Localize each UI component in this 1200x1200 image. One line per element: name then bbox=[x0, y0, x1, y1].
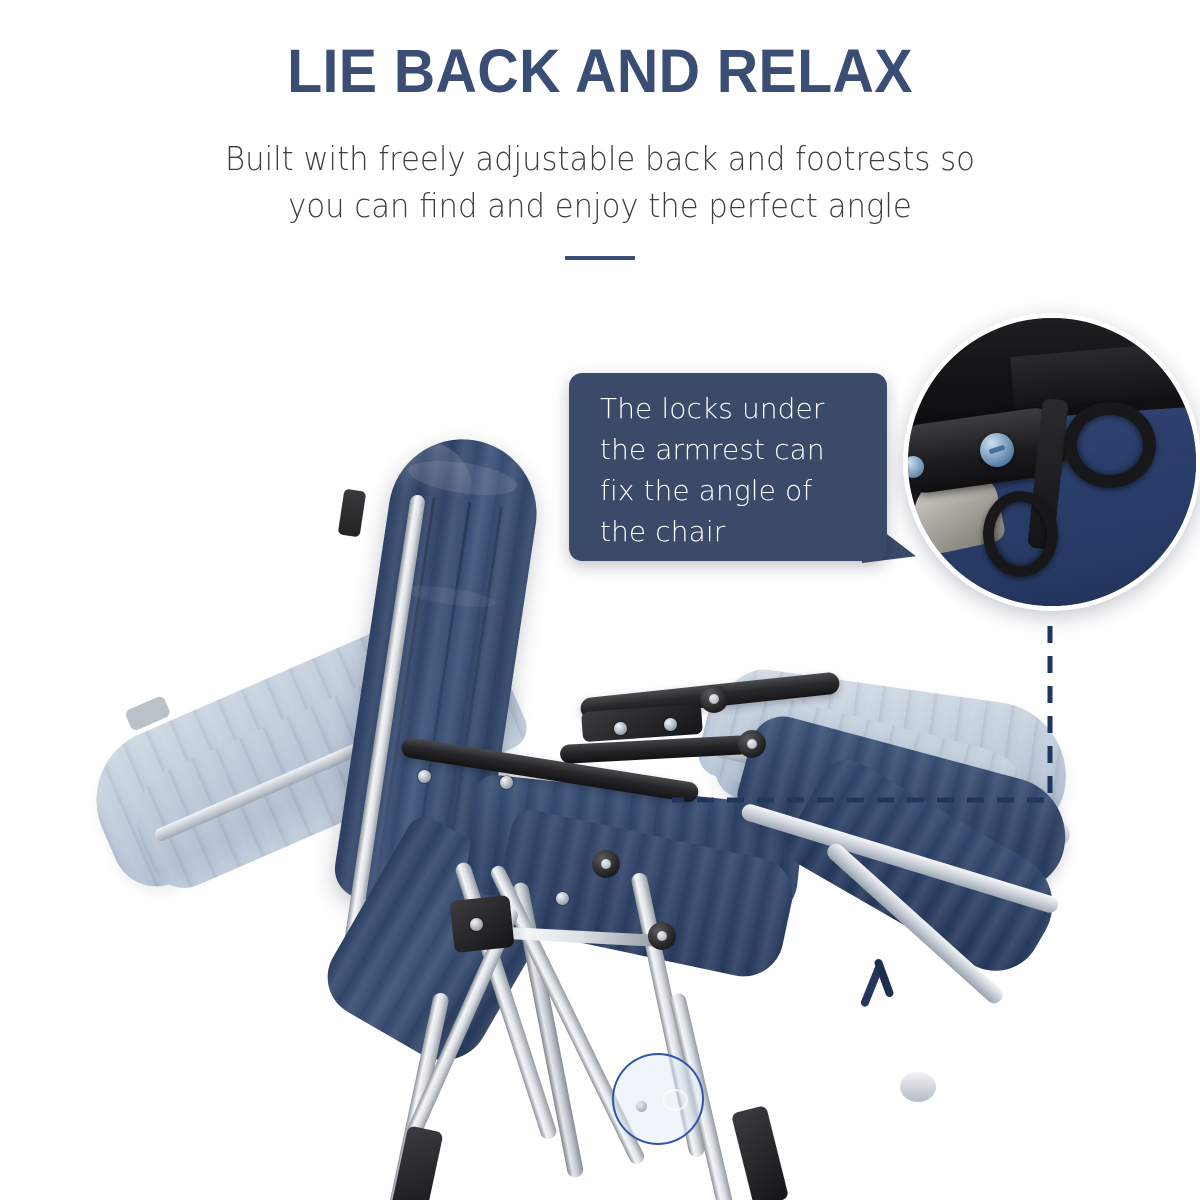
footrest-end-cap bbox=[900, 1072, 936, 1102]
callout-line-4: the chair bbox=[600, 512, 871, 553]
brace-pivot bbox=[592, 850, 620, 878]
callout-line-3: fix the angle of bbox=[600, 471, 871, 512]
subtitle-line-2: you can find and enjoy the perfect angle bbox=[154, 183, 1047, 230]
hardware-screw bbox=[470, 918, 483, 931]
page-subtitle: Built with freely adjustable back and fo… bbox=[154, 136, 1047, 230]
hardware-screw bbox=[664, 718, 677, 731]
callout-text: The locks under the armrest can fix the … bbox=[600, 389, 871, 553]
inset-lock-ring-upper bbox=[1064, 402, 1156, 488]
page-headline: LIE BACK AND RELAX bbox=[36, 36, 1164, 106]
product-infographic: LIE BACK AND RELAX Built with freely adj… bbox=[0, 0, 1200, 1200]
callout-bubble: The locks under the armrest can fix the … bbox=[569, 373, 887, 561]
armrest-lock-highlight-marker[interactable] bbox=[612, 1053, 704, 1145]
header-divider-rule bbox=[565, 256, 635, 260]
inset-pivot-screw bbox=[980, 433, 1014, 467]
leg-slider-block-right bbox=[731, 1105, 789, 1200]
armrest-lock-detail-inset bbox=[903, 313, 1200, 611]
subtitle-line-1: Built with freely adjustable back and fo… bbox=[154, 136, 1047, 183]
callout-line-1: The locks under bbox=[600, 389, 871, 430]
brace-pivot bbox=[648, 922, 676, 950]
inset-lock-ring-lower bbox=[983, 491, 1058, 577]
lock-ring-icon bbox=[662, 1089, 688, 1111]
hardware-screw bbox=[500, 776, 513, 789]
armrest-pivot-joint bbox=[700, 685, 728, 713]
armrest-pivot-joint bbox=[738, 730, 766, 758]
hardware-screw bbox=[556, 892, 569, 905]
lock-screw-icon bbox=[636, 1101, 647, 1112]
leg-slider-block-left bbox=[388, 1125, 443, 1200]
backrest-frame-end-cap bbox=[338, 489, 367, 538]
hardware-screw bbox=[614, 722, 627, 735]
hardware-screw bbox=[418, 770, 431, 783]
callout-line-2: the armrest can bbox=[600, 430, 871, 471]
